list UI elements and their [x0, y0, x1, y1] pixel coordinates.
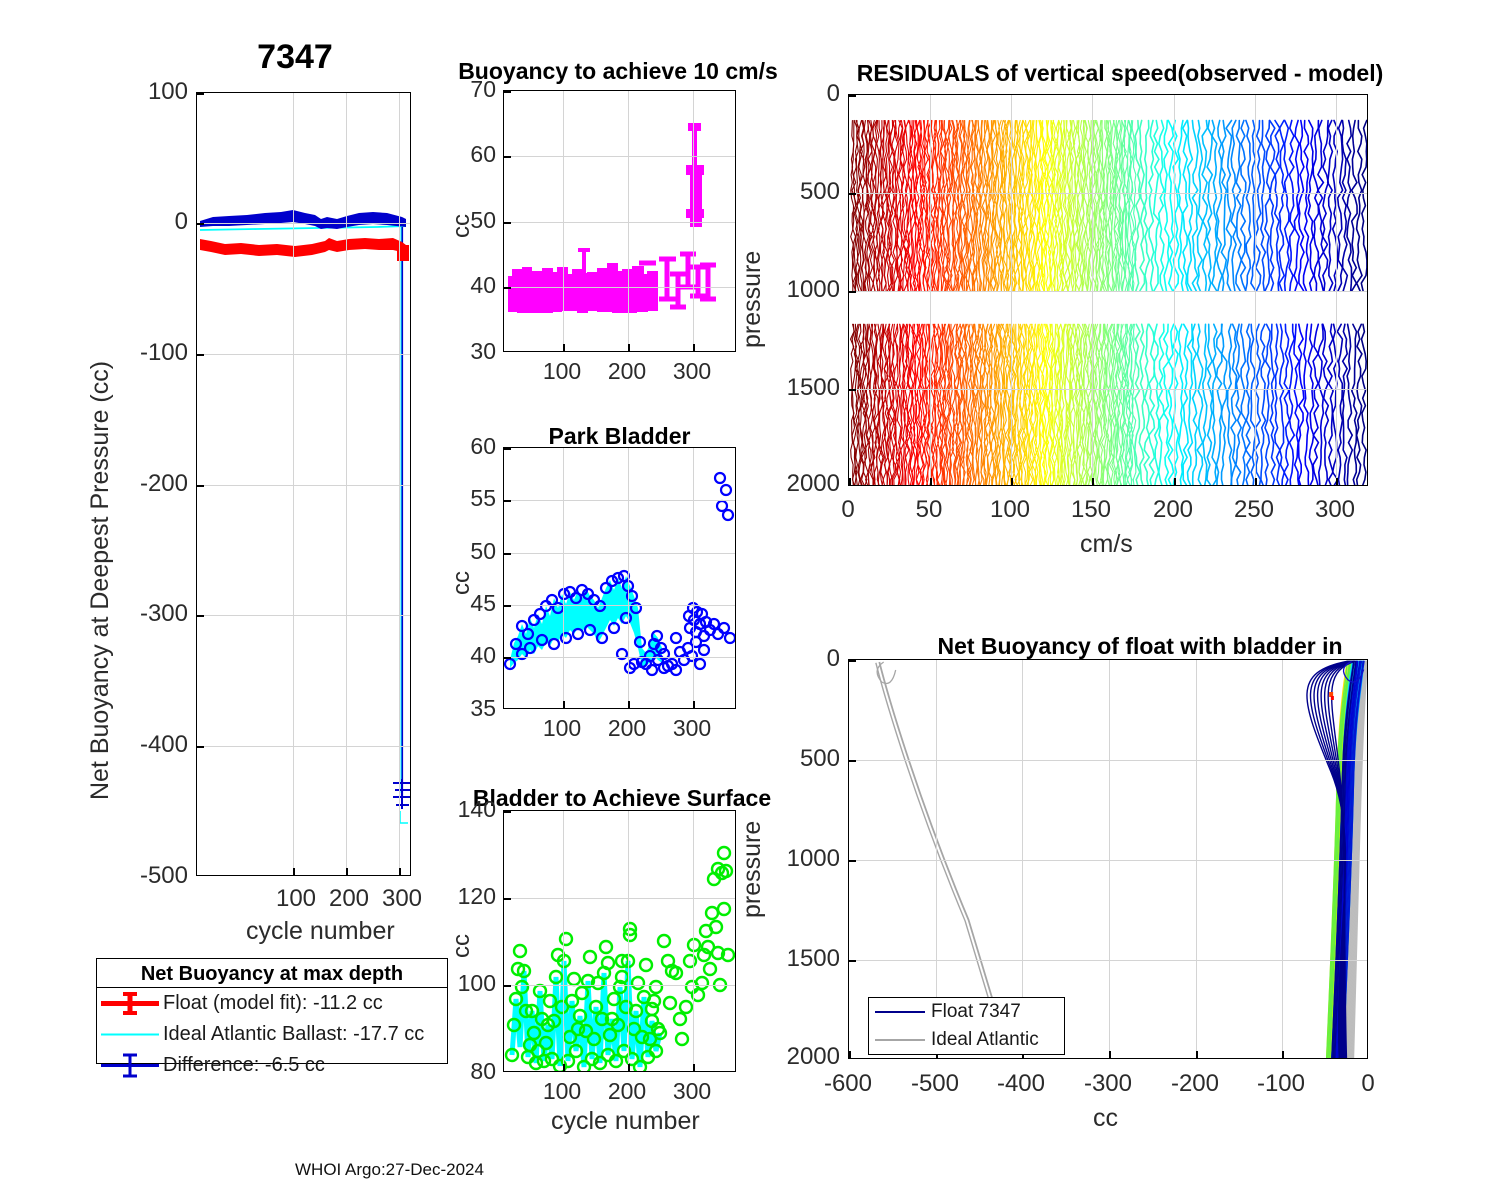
xlabel-p6: cc [1093, 1104, 1118, 1133]
xtick-p4-300: 300 [648, 1078, 736, 1105]
xtick-p3-300: 300 [648, 715, 736, 742]
legend-row-float7347: Float 7347 [869, 998, 1064, 1026]
xtick-p5-200: 200 [1131, 496, 1215, 524]
ytick-p4-80: 80 [412, 1058, 496, 1085]
ytick-p5-1500: 1500 [748, 374, 840, 402]
ylabel-p1: Net Buoyancy at Deepest Pressure (cc) [86, 361, 115, 800]
ytick-p2-60: 60 [420, 141, 496, 168]
ytick-p1-100: 100 [100, 78, 188, 106]
legend-row-idealatlantic: Ideal Atlantic [869, 1026, 1064, 1054]
legend-title: Net Buoyancy at max depth [97, 959, 447, 988]
ytick-p3-60: 60 [420, 433, 496, 460]
ytick-p1-0: 0 [100, 208, 188, 236]
legend-net-buoyancy-max-depth: Net Buoyancy at max depth Float (model f… [96, 958, 448, 1064]
title-residuals: RESIDUALS of vertical speed(observed - m… [840, 60, 1400, 87]
legend-key-idealatlantic [869, 1026, 931, 1054]
legend-label-difference: Difference: -6.5 cc [163, 1054, 325, 1077]
ytick-p2-70: 70 [420, 76, 496, 103]
xtick-p5-300: 300 [1293, 496, 1377, 524]
plot-area-bladder-surface [503, 810, 736, 1072]
title-park-bladder: Park Bladder [503, 423, 736, 450]
park-bladder-points [504, 448, 736, 709]
main-title: 7347 [195, 38, 395, 77]
xtick-p6-m500: -500 [893, 1070, 977, 1098]
plot-area-park-bladder [503, 447, 736, 709]
title-bladder-surface: Bladder to Achieve Surface [462, 785, 782, 812]
ylabel-p6: pressure [738, 821, 767, 918]
ytick-p5-500: 500 [760, 178, 840, 206]
ytick-p1-m500: -500 [100, 862, 188, 890]
legend-key-float7347 [869, 998, 931, 1026]
title-bladder-in: Net Buoyancy of float with bladder in [870, 633, 1410, 660]
ytick-p2-40: 40 [420, 272, 496, 299]
ytick-p5-0: 0 [760, 80, 840, 108]
legend-label-idealatlantic: Ideal Atlantic [931, 1029, 1039, 1051]
ylabel-p2: cc [448, 214, 476, 238]
xtick-p6-0: 0 [1326, 1070, 1410, 1098]
xtick-p5-250: 250 [1212, 496, 1296, 524]
ytick-p4-120: 120 [412, 883, 496, 910]
ytick-p6-0: 0 [760, 645, 840, 673]
plot-area-net-buoyancy-deepest [196, 92, 411, 876]
xlabel-p5: cm/s [1080, 530, 1133, 559]
legend-row-ideal: Ideal Atlantic Ballast: -17.7 cc [97, 1019, 447, 1050]
ylabel-p5: pressure [738, 251, 767, 348]
xtick-p5-0: 0 [806, 496, 890, 524]
ytick-p4-140: 140 [412, 796, 496, 823]
xtick-p6-m200: -200 [1153, 1070, 1237, 1098]
ytick-p3-50: 50 [420, 538, 496, 565]
footer-credit: WHOI Argo:27-Dec-2024 [295, 1160, 484, 1180]
ylabel-p3: cc [448, 571, 476, 595]
ytick-p6-2000: 2000 [748, 1043, 840, 1071]
xtick-p6-m600: -600 [806, 1070, 890, 1098]
legend-key-errorbar-red [97, 988, 163, 1019]
xtick-p6-m400: -400 [979, 1070, 1063, 1098]
xtick-p5-50: 50 [887, 496, 971, 524]
xtick-p5-150: 150 [1049, 496, 1133, 524]
legend-label-float: Float (model fit): -11.2 cc [163, 992, 383, 1015]
ylabel-p4: cc [448, 934, 476, 958]
xtick-p2-300: 300 [648, 358, 736, 385]
xtick-p6-m300: -300 [1066, 1070, 1150, 1098]
legend-row-float: Float (model fit): -11.2 cc [97, 988, 447, 1019]
legend-row-difference: Difference: -6.5 cc [97, 1050, 447, 1081]
ytick-p3-35: 35 [420, 695, 496, 722]
xtick-p6-m100: -100 [1239, 1070, 1323, 1098]
legend-label-ideal: Ideal Atlantic Ballast: -17.7 cc [163, 1023, 424, 1046]
bladder-surface-points [504, 811, 736, 1072]
ytick-p3-55: 55 [420, 485, 496, 512]
xtick-p5-100: 100 [968, 496, 1052, 524]
legend-key-line-cyan [97, 1019, 163, 1050]
ytick-p6-500: 500 [760, 745, 840, 773]
legend-label-float7347: Float 7347 [931, 1001, 1021, 1023]
plot-area-residuals [848, 94, 1368, 486]
xlabel-p4: cycle number [551, 1107, 700, 1136]
legend-key-errorbar-blue [97, 1050, 163, 1081]
ytick-p6-1500: 1500 [748, 945, 840, 973]
legend-bladder-in: Float 7347 Ideal Atlantic [868, 997, 1065, 1055]
xlabel-p1: cycle number [246, 917, 395, 946]
ytick-p2-30: 30 [420, 338, 496, 365]
plot-area-buoyancy-10cms [503, 90, 736, 352]
ytick-p5-2000: 2000 [748, 470, 840, 498]
ytick-p4-100: 100 [412, 970, 496, 997]
ytick-p3-40: 40 [420, 642, 496, 669]
